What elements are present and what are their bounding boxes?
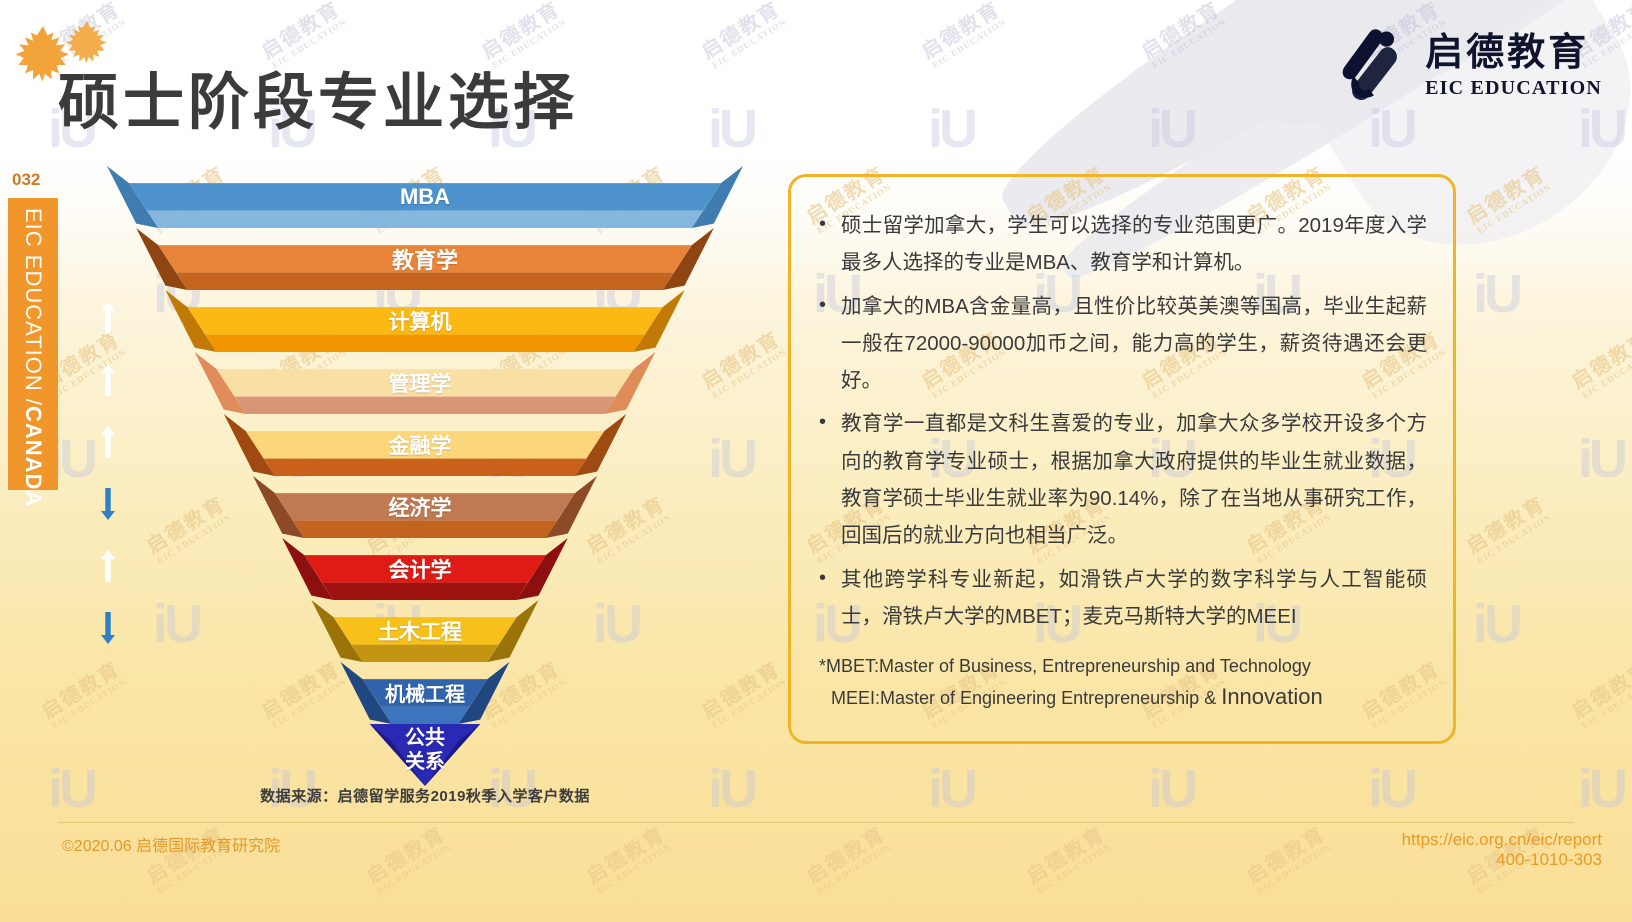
rail-label-prefix: EIC EDUCATION / [20,208,46,406]
info-panel: 硕士留学加拿大，学生可以选择的专业范围更广。2019年度入学最多人选择的专业是M… [788,174,1456,744]
funnel-segment-5: 金融学 [100,425,750,465]
funnel-label-text: 会计学 [389,554,452,584]
funnel-label-text: 金融学 [389,430,452,460]
logo-text-en: EIC EDUCATION [1425,78,1602,98]
funnel-label-text: 教育学 [392,243,458,275]
eic-logo-mark [1325,24,1411,108]
funnel-segment-10: 公共关系 [100,730,750,770]
funnel-segment-7: 会计学 [100,549,750,589]
slide-canvas: 启德教育EIC EDUCATIONiU启德教育EIC EDUCATIONiU启德… [0,0,1632,922]
note-meei-innovation: Innovation [1221,684,1323,709]
funnel-label-text: 机械工程 [385,678,465,707]
funnel-label-text: 土木工程 [378,616,462,646]
bullet-item-2: 加拿大的MBA含金量高，且性价比较英美澳等国高，毕业生起薪一般在72000-90… [811,288,1427,400]
funnel-label-text: 公共 [405,727,445,749]
funnel-segment-8: 土木工程 [100,611,750,651]
funnel-segment-2: 教育学 [100,239,750,279]
funnel-segment-9: 机械工程 [100,673,750,713]
footer-phone: 400-1010-303 [1402,850,1602,870]
left-rail-label: EIC EDUCATION / CANADA [8,198,58,490]
bullet-item-4: 其他跨学科专业新起，如滑铁卢大学的数字科学与人工智能硕士，滑铁卢大学的MBET；… [811,561,1427,636]
note-line-meei: MEEI:Master of Engineering Entrepreneurs… [819,680,1427,713]
data-source-note: 数据来源：启德留学服务2019秋季入学客户数据 [100,785,750,806]
funnel-label-text: 管理学 [389,368,452,398]
footer-divider [58,822,1574,823]
funnel-segment-3: 计算机 [100,301,750,341]
page-title: 硕士阶段专业选择 [58,52,578,141]
bullet-list: 硕士留学加拿大，学生可以选择的专业范围更广。2019年度入学最多人选择的专业是M… [811,207,1427,635]
funnel-segment-6: 经济学 [100,487,750,527]
funnel-label-layer: MBA教育学计算机管理学金融学经济学会计学土木工程机械工程公共关系 [100,160,750,790]
brand-logo: 启德教育 EIC EDUCATION [1325,24,1602,108]
copyright-text: ©2020.06 启德国际教育研究院 [62,832,280,856]
funnel-segment-4: 管理学 [100,363,750,403]
abbreviation-note: *MBET:Master of Business, Entrepreneursh… [811,653,1427,713]
funnel-chart: MBA教育学计算机管理学金融学经济学会计学土木工程机械工程公共关系 [100,160,750,790]
funnel-label-text: MBA [400,184,450,210]
funnel-segment-1: MBA [100,177,750,217]
footer-url[interactable]: https://eic.org.cn/eic/report [1402,830,1602,850]
note-meei-text: MEEI:Master of Engineering Entrepreneurs… [831,688,1221,708]
note-line-mbet: *MBET:Master of Business, Entrepreneursh… [819,653,1427,680]
bullet-item-3: 教育学一直都是文科生喜爱的专业，加拿大众多学校开设多个方向的教育学专业硕士，根据… [811,405,1427,554]
bullet-item-1: 硕士留学加拿大，学生可以选择的专业范围更广。2019年度入学最多人选择的专业是M… [811,207,1427,282]
funnel-label-text: 计算机 [389,306,452,336]
logo-text-cn: 启德教育 [1425,34,1589,72]
page-number: 032 [12,170,40,190]
footer-contact: https://eic.org.cn/eic/report 400-1010-3… [1402,830,1602,870]
funnel-label-text-2: 关系 [405,751,445,773]
funnel-label-text: 经济学 [389,492,452,522]
rail-label-country: CANADA [20,406,46,507]
